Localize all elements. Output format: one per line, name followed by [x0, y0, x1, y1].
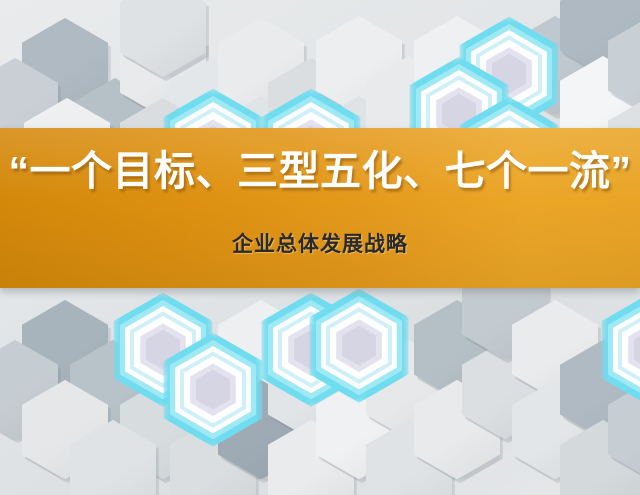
glowing-hexagon-tile [316, 296, 402, 395]
glowing-hexagon-tile [608, 300, 640, 399]
title-banner: “一个目标、三型五化、七个一流” 企业总体发展战略 [0, 128, 640, 288]
presentation-slide: “一个目标、三型五化、七个一流” 企业总体发展战略 [0, 0, 640, 495]
page-title: “一个目标、三型五化、七个一流” [0, 150, 640, 193]
page-subtitle: 企业总体发展战略 [0, 228, 640, 258]
glowing-hexagon-tile [170, 340, 256, 439]
